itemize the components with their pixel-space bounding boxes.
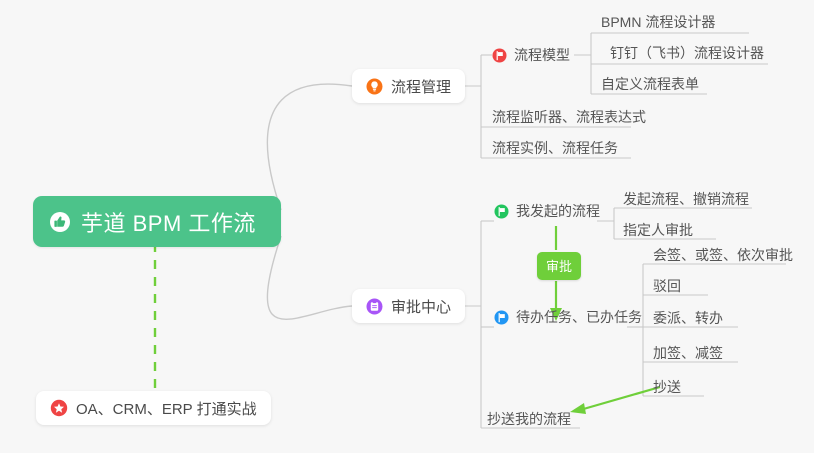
leaf-label: 流程实例、流程任务	[492, 140, 618, 156]
leaf-bpmn-designer[interactable]: BPMN 流程设计器	[601, 12, 715, 36]
thumbs-up-icon	[49, 211, 71, 233]
branch-label-approval-center: 审批中心	[391, 296, 451, 317]
lightbulb-icon	[366, 78, 383, 95]
sub-label-process-model: 流程模型	[514, 45, 570, 65]
leaf-label: 委派、转办	[653, 310, 723, 326]
leaf-process-instance-task[interactable]: 流程实例、流程任务	[492, 138, 618, 162]
root-node[interactable]: 芋道 BPM 工作流	[33, 196, 281, 247]
red-flag-icon	[492, 48, 507, 63]
leaf-assignee-approval[interactable]: 指定人审批	[623, 220, 693, 244]
green-flag-icon	[494, 204, 509, 219]
leaf-delegate-transfer[interactable]: 委派、转办	[653, 308, 723, 332]
leaf-label: 抄送我的流程	[487, 411, 571, 427]
leaf-label: 流程监听器、流程表达式	[492, 109, 646, 125]
sub-node-todo-done-tasks[interactable]: 待办任务、已办任务	[494, 307, 642, 331]
root-label: 芋道 BPM 工作流	[81, 206, 256, 238]
bottom-note-card[interactable]: OA、CRM、ERP 打通实战	[36, 391, 271, 425]
leaf-label: 会签、或签、依次审批	[653, 247, 793, 263]
branch-label-process-management: 流程管理	[391, 76, 451, 97]
approval-arrow-tag-label: 审批	[546, 259, 572, 274]
sub-node-process-model[interactable]: 流程模型	[492, 45, 570, 69]
leaf-label: 指定人审批	[623, 222, 693, 238]
leaf-cc-to-me-process[interactable]: 抄送我的流程	[487, 409, 571, 433]
leaf-label: 发起流程、撤销流程	[623, 191, 749, 207]
sub-label-todo-done-tasks: 待办任务、已办任务	[516, 307, 642, 327]
leaf-dingtalk-feishu-designer[interactable]: 钉钉（飞书）流程设计器	[610, 43, 764, 67]
clipboard-icon	[366, 298, 383, 315]
leaf-carbon-copy[interactable]: 抄送	[653, 377, 681, 401]
approval-arrow-tag: 审批	[537, 252, 581, 280]
leaf-label: 加签、减签	[653, 345, 723, 361]
leaf-label: 钉钉（飞书）流程设计器	[610, 45, 764, 61]
leaf-countersign-orsign-sequential[interactable]: 会签、或签、依次审批	[653, 245, 793, 269]
leaf-add-remove-sign[interactable]: 加签、减签	[653, 343, 723, 367]
leaf-label: 驳回	[653, 278, 681, 294]
bottom-note-label: OA、CRM、ERP 打通实战	[76, 398, 257, 419]
leaf-label: 自定义流程表单	[601, 76, 699, 92]
leaf-label: 抄送	[653, 379, 681, 395]
red-star-icon	[50, 399, 68, 417]
leaf-process-listener-expression[interactable]: 流程监听器、流程表达式	[492, 107, 646, 131]
leaf-start-cancel-process[interactable]: 发起流程、撤销流程	[623, 189, 749, 213]
branch-node-process-management[interactable]: 流程管理	[352, 69, 465, 103]
sub-node-my-initiated-process[interactable]: 我发起的流程	[494, 201, 600, 225]
leaf-reject[interactable]: 驳回	[653, 276, 681, 300]
sub-label-my-initiated-process: 我发起的流程	[516, 201, 600, 221]
branch-node-approval-center[interactable]: 审批中心	[352, 289, 465, 323]
leaf-label: BPMN 流程设计器	[601, 14, 715, 30]
blue-flag-icon	[494, 310, 509, 325]
mindmap-canvas: 芋道 BPM 工作流 流程管理 流程模型 BPMN 流程设计器 钉钉（飞书）流程	[0, 0, 814, 453]
leaf-custom-process-form[interactable]: 自定义流程表单	[601, 74, 699, 98]
